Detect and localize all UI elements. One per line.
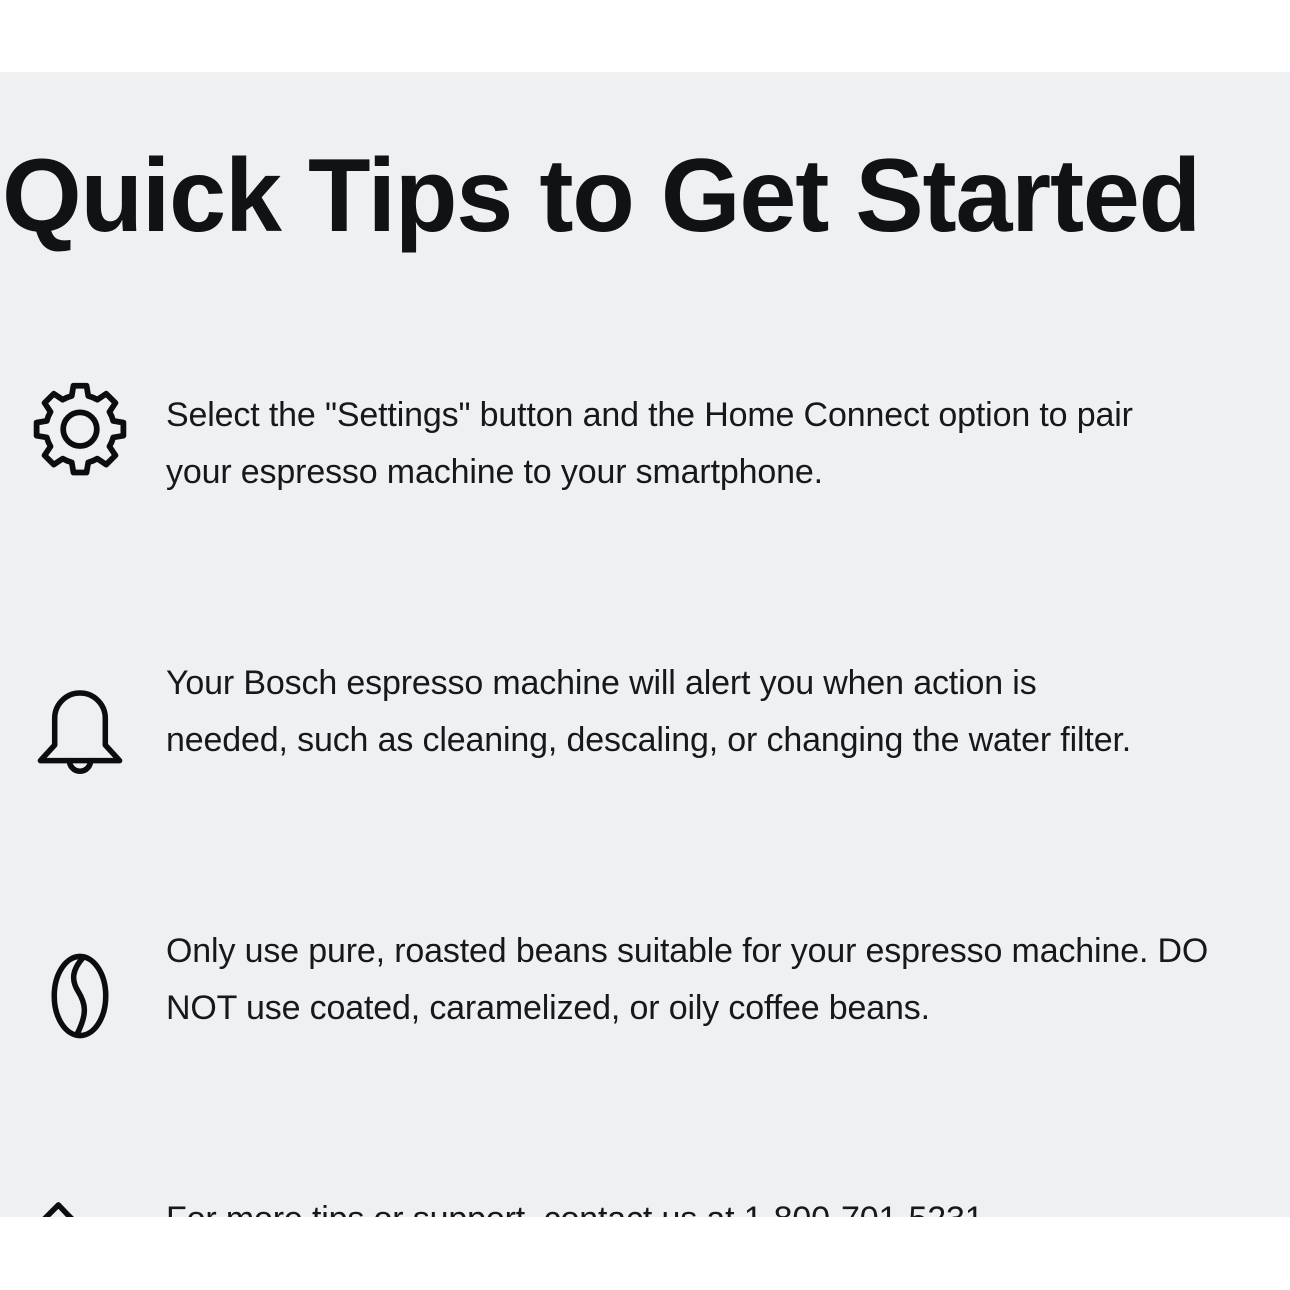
bell-icon <box>0 682 160 774</box>
tip-text: Only use pure, roasted beans suitable fo… <box>166 923 1210 1037</box>
page-title: Quick Tips to Get Started <box>2 140 1290 252</box>
gear-icon <box>0 380 160 476</box>
phone-icon <box>0 1198 160 1217</box>
coffee-bean-icon <box>0 950 160 1042</box>
quick-tips-card: Quick Tips to Get Started Select the "Se… <box>0 0 1290 1290</box>
tip-text: For more tips or support, contact us at … <box>166 1191 1053 1217</box>
tip-text: Select the "Settings" button and the Hom… <box>166 387 1161 501</box>
content-panel: Quick Tips to Get Started Select the "Se… <box>0 72 1290 1217</box>
tip-text: Your Bosch espresso machine will alert y… <box>166 655 1161 769</box>
